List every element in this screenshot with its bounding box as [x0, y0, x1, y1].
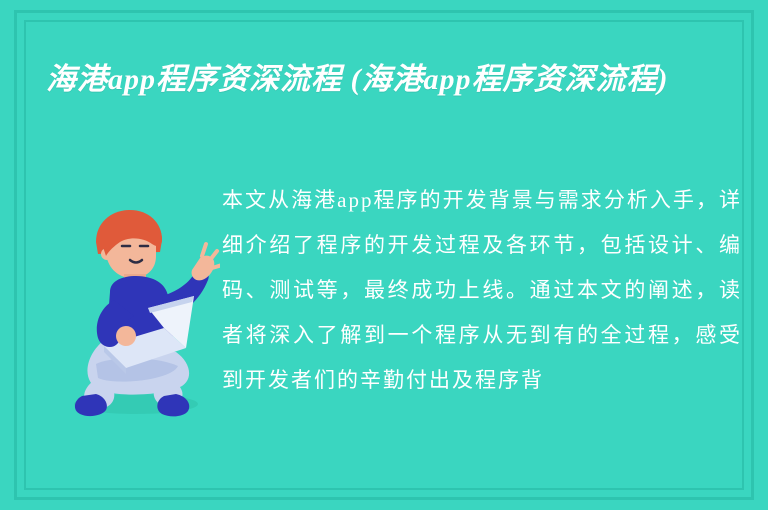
page-title: 海港app程序资深流程 (海港app程序资深流程): [46, 56, 726, 104]
poster-canvas: 海港app程序资深流程 (海港app程序资深流程): [0, 0, 768, 510]
article-body: 本文从海港app程序的开发背景与需求分析入手，详细介绍了程序的开发过程及各环节，…: [222, 178, 742, 403]
person-with-laptop-illustration: [52, 196, 220, 426]
